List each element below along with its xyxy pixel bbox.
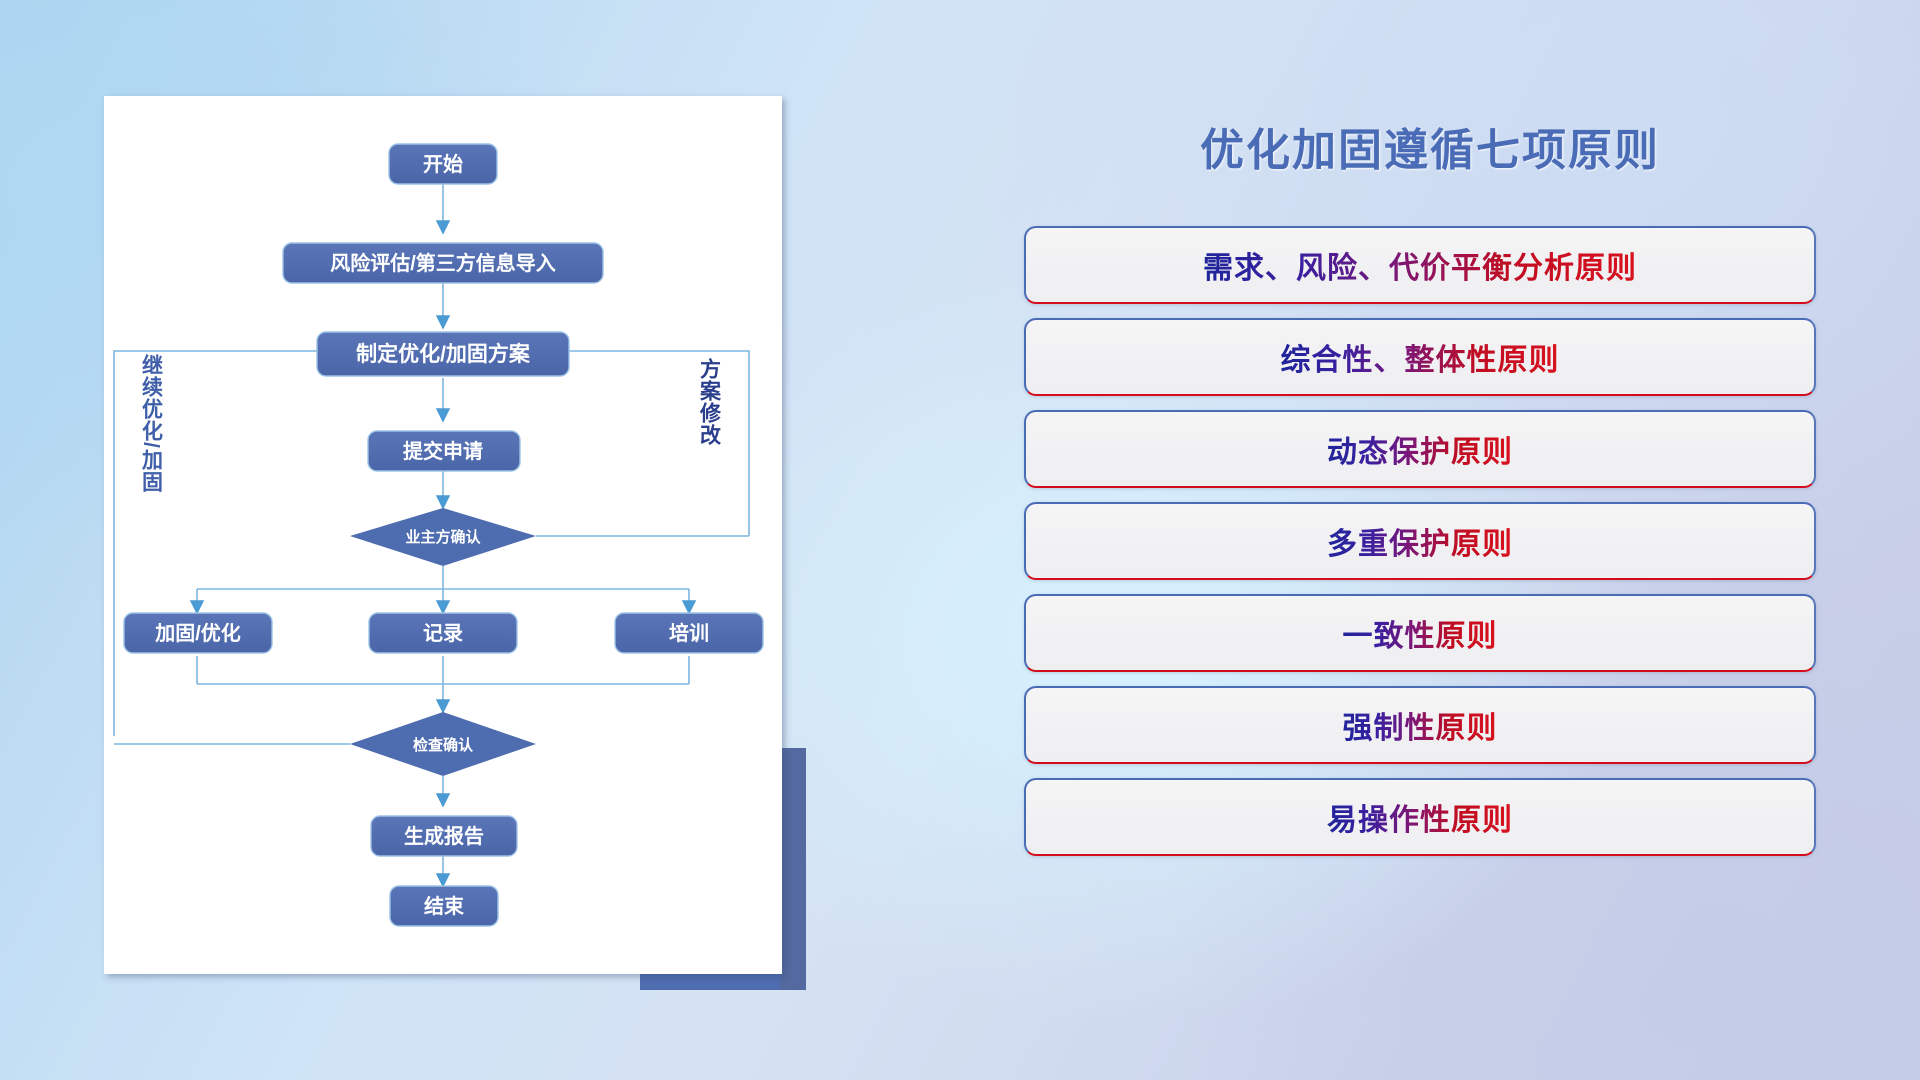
principle-label: 需求、风险、代价平衡分析原则 — [1203, 243, 1637, 287]
principle-item-2[interactable]: 综合性、整体性原则 — [1024, 318, 1816, 396]
flow-node-reinforce[interactable]: 加固/优化 — [124, 613, 272, 653]
flow-node-record-label: 记录 — [423, 622, 463, 645]
flow-node-end[interactable]: 结束 — [390, 886, 498, 926]
principle-item-5[interactable]: 一致性原则 — [1024, 594, 1816, 672]
flow-node-check[interactable]: 检查确认 — [350, 712, 536, 776]
edge-label-left-loop: 继续优化/加固 — [140, 353, 165, 492]
edge-label-right-loop: 方案修改 — [698, 357, 723, 446]
principle-label: 多重保护原则 — [1327, 519, 1513, 563]
principle-item-1[interactable]: 需求、风险、代价平衡分析原则 — [1024, 226, 1816, 304]
flow-node-risk-label: 风险评估/第三方信息导入 — [330, 251, 556, 275]
principle-item-6[interactable]: 强制性原则 — [1024, 686, 1816, 764]
flow-node-risk[interactable]: 风险评估/第三方信息导入 — [283, 243, 603, 283]
flow-node-report-label: 生成报告 — [404, 824, 484, 848]
principles-panel: 优化加固遵循七项原则 需求、风险、代价平衡分析原则 综合性、整体性原则 动态保护… — [1020, 96, 1840, 996]
flow-node-start-label: 开始 — [423, 152, 463, 176]
flow-node-plan[interactable]: 制定优化/加固方案 — [317, 332, 569, 376]
flow-node-report[interactable]: 生成报告 — [371, 816, 517, 856]
flow-node-training-label: 培训 — [669, 621, 709, 645]
card-decor-bar-right — [780, 748, 806, 990]
principle-label: 一致性原则 — [1343, 611, 1498, 655]
flow-node-record[interactable]: 记录 — [369, 613, 517, 653]
flow-node-owner-confirm[interactable]: 业主方确认 — [350, 508, 536, 566]
flow-node-submit-label: 提交申请 — [403, 439, 483, 463]
principle-label: 综合性、整体性原则 — [1281, 335, 1560, 379]
flow-node-reinforce-label: 加固/优化 — [154, 621, 241, 645]
flow-node-submit[interactable]: 提交申请 — [368, 431, 520, 471]
flow-node-start[interactable]: 开始 — [389, 144, 497, 184]
flow-node-training[interactable]: 培训 — [615, 613, 763, 653]
flow-node-plan-label: 制定优化/加固方案 — [356, 342, 531, 366]
flowchart-diagram: 开始 风险评估/第三方信息导入 制定优化/加固方案 提交申请 业主方确认 加固/… — [104, 96, 782, 974]
flow-node-end-label: 结束 — [424, 894, 465, 918]
page-title: 优化加固遵循七项原则 — [1020, 114, 1840, 178]
principle-label: 易操作性原则 — [1327, 795, 1513, 839]
principle-item-4[interactable]: 多重保护原则 — [1024, 502, 1816, 580]
principle-item-7[interactable]: 易操作性原则 — [1024, 778, 1816, 856]
principles-list: 需求、风险、代价平衡分析原则 综合性、整体性原则 动态保护原则 多重保护原则 一… — [1024, 226, 1816, 870]
slide-background: 开始 风险评估/第三方信息导入 制定优化/加固方案 提交申请 业主方确认 加固/… — [0, 0, 1920, 1080]
principle-item-3[interactable]: 动态保护原则 — [1024, 410, 1816, 488]
principle-label: 动态保护原则 — [1327, 427, 1513, 471]
flow-node-check-label: 检查确认 — [413, 736, 474, 754]
flow-node-owner-confirm-label: 业主方确认 — [405, 528, 481, 546]
principle-label: 强制性原则 — [1343, 703, 1498, 747]
